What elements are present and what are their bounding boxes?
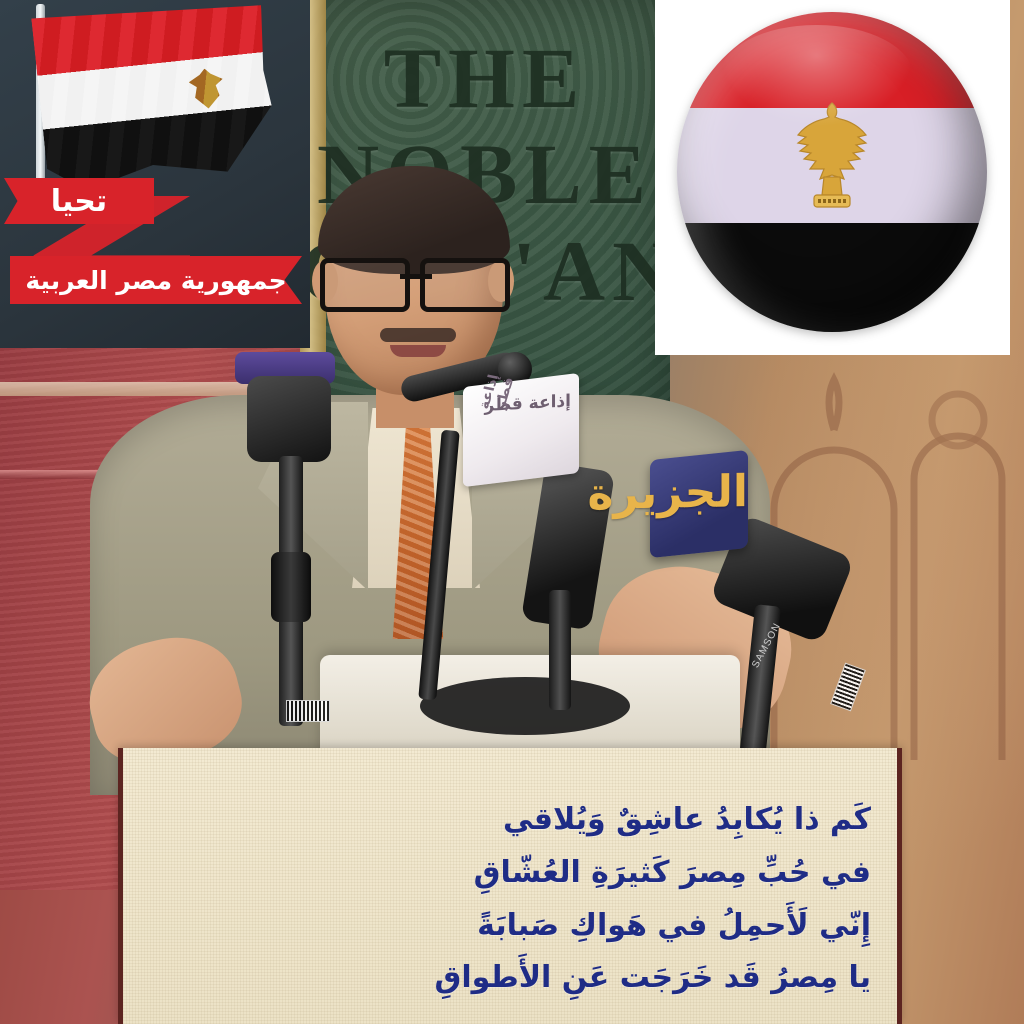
egypt-waving-flag-icon [31,0,279,198]
egypt-flag-graphic-card: تحيا جمهورية مصر العربية [0,0,310,348]
microphone-left [225,352,345,732]
lens-left [320,258,410,312]
barcode-sticker-left [286,700,330,722]
eagle-of-saladin-icon [188,67,226,110]
composite-image: THE NOBLE QUR'AN [0,0,1024,1024]
mic-left-barrel [247,376,331,462]
ribbon-country-name: جمهورية مصر العربية [10,256,302,304]
lens-right [420,258,510,312]
poem-line-5-clipped [149,1005,871,1024]
microphone-al-jazeera: الجزيرة [650,455,850,775]
mic-left-grip [271,552,311,622]
al-jazeera-logo-text: الجزيرة [650,466,748,519]
mic-flag-al-jazeera: الجزيرة [650,450,748,558]
glasses-bridge [400,274,432,279]
egypt-flag-badge-card [655,0,1010,355]
poem-line-2: في حُبِّ مِصرَ كَثيرَةِ العُشّاقِ [149,847,871,900]
egypt-flag-round-badge [677,12,987,332]
poem-line-3: إِنّي لَأَحمِلُ في هَواكِ صَبابَةً [149,900,871,953]
eyeglasses [320,258,510,304]
microphone-qatar-radio: إذاعة قطر إذاعة قطر [463,380,623,710]
mic-flag-qatar-radio: إذاعة قطر إذاعة قطر [463,373,579,487]
arabic-poem-panel: كَم ذا يُكابِدُ عاشِقٌ وَيُلاقي في حُبِّ… [118,748,902,1024]
mic-qatar-stand [549,590,571,710]
poem-line-4: يا مِصرُ قَد خَرَجَت عَنِ الأَطواقِ [149,952,871,1005]
ribbon-tahya: تحيا [4,178,154,224]
quran-line-1: THE [300,30,670,126]
poem-lines-container: كَم ذا يُكابِدُ عاشِقٌ وَيُلاقي في حُبِّ… [123,748,897,1024]
eagle-of-saladin-badge-icon [784,99,880,219]
mustache [380,328,456,342]
poem-line-1: كَم ذا يُكابِدُ عاشِقٌ وَيُلاقي [149,794,871,847]
